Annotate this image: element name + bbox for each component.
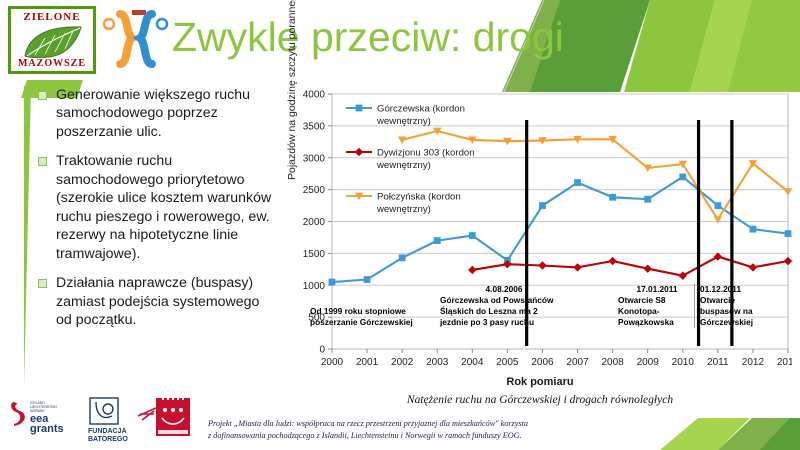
svg-text:2000: 2000: [303, 217, 326, 228]
chart-annotation-4: 01.12.2011Otwarciebuspasów naGórczewskie…: [700, 284, 780, 328]
svg-text:2000: 2000: [321, 357, 344, 368]
bullet-square-icon: [38, 91, 47, 100]
sponsor-logos: ICELAND LIECHTENSTEIN NORWAY eea grants …: [8, 392, 208, 442]
braces-graphic: [100, 8, 170, 70]
svg-text:2004: 2004: [461, 357, 484, 368]
svg-text:2003: 2003: [426, 357, 449, 368]
bullet-square-icon: [38, 157, 47, 166]
footer-line-2: z dofinansowania pochodzącego z Islandii…: [208, 430, 658, 442]
page-title: Zwykle przeciw: drogi: [172, 14, 564, 61]
annotation-date: 17.01.2011: [618, 284, 696, 295]
bullet-text: Generowanie większego ruchu samochodoweg…: [56, 86, 278, 141]
chart-caption: Natężenie ruchu na Górczewskiej i drogac…: [288, 394, 792, 406]
chart-plot-area: 0500100015002000250030003500400020002001…: [288, 84, 792, 376]
logo-word-top: ZIELONE: [11, 11, 93, 23]
footer-line-1: Projekt „Miasta dla ludzi: współpraca na…: [208, 418, 658, 430]
polska-fundacja-logo: [138, 394, 190, 436]
annotation-line: Od 1999 roku stopniowe: [310, 306, 432, 317]
annotation-line: Konotopa-: [618, 306, 696, 317]
svg-text:wewnętrzny): wewnętrzny): [376, 116, 431, 127]
zielone-mazowsze-logo: ZIELONE MAZOWSZE: [8, 6, 98, 76]
svg-text:wewnętrzny): wewnętrzny): [376, 204, 431, 215]
logo-word-bottom: MAZOWSZE: [11, 58, 93, 69]
svg-text:2500: 2500: [303, 185, 326, 196]
svg-text:2013: 2013: [777, 357, 792, 368]
annotation-line: Powązkowska: [618, 317, 696, 328]
bullet-list: Generowanie większego ruchu samochodoweg…: [38, 86, 278, 340]
svg-text:FUNDACJA: FUNDACJA: [88, 428, 127, 435]
annotation-line: Śląskich do Leszna ma 2: [440, 306, 568, 317]
list-item: Generowanie większego ruchu samochodoweg…: [38, 86, 278, 141]
annotation-date: 4.08.2006: [440, 284, 568, 295]
list-item: Działania naprawcze (buspasy) zamiast po…: [38, 274, 278, 329]
chart-x-axis-label: Rok pomiaru: [288, 376, 792, 388]
svg-text:2009: 2009: [637, 357, 660, 368]
annotation-line: jezdnie po 3 pasy ruchu: [440, 317, 568, 328]
svg-text:2006: 2006: [531, 357, 554, 368]
footer-decorative-shapes: [640, 410, 800, 450]
annotation-divider: [694, 284, 695, 328]
svg-text:1000: 1000: [303, 281, 326, 292]
annotation-line: Górczewskiej: [700, 317, 780, 328]
annotation-date: 01.12.2011: [700, 284, 780, 295]
svg-text:2005: 2005: [496, 357, 519, 368]
annotation-line: Otwarcie S8: [618, 295, 696, 306]
slide-root: ZIELONE MAZOWSZE Zwykle przeciw: drogi: [0, 0, 800, 450]
footer-funding-text: Projekt „Miasta dla ludzi: współpraca na…: [208, 418, 658, 442]
eea-grants-logo: ICELAND LIECHTENSTEIN NORWAY eea grants: [11, 401, 63, 435]
svg-text:Górczewska (kordon: Górczewska (kordon: [377, 104, 465, 115]
svg-text:BATOREGO: BATOREGO: [88, 436, 128, 442]
svg-text:3000: 3000: [303, 153, 326, 164]
annotation-line: buspasów na: [700, 306, 780, 317]
annotation-line: Otwarcie: [700, 295, 780, 306]
svg-text:grants: grants: [30, 423, 64, 435]
bullet-square-icon: [38, 279, 47, 288]
fundacja-batorego-logo: FUNDACJA BATOREGO: [88, 398, 128, 442]
chart-annotation-2: 4.08.2006Górczewska od PowstańcówŚląskic…: [440, 284, 568, 328]
bullet-text: Działania naprawcze (buspasy) zamiast po…: [56, 274, 278, 329]
svg-text:2001: 2001: [356, 357, 379, 368]
svg-text:Połczyńska (kordon: Połczyńska (kordon: [377, 192, 461, 203]
chart-annotation-3: 17.01.2011Otwarcie S8Konotopa-Powązkowsk…: [618, 284, 696, 328]
list-item: Traktowanie ruchu samochodowego prioryte…: [38, 152, 278, 263]
annotation-line: Górczewska od Powstańców: [440, 295, 568, 306]
svg-text:2008: 2008: [601, 357, 624, 368]
svg-text:4000: 4000: [303, 90, 326, 101]
svg-text:2010: 2010: [672, 357, 695, 368]
svg-text:3500: 3500: [303, 121, 326, 132]
svg-text:1500: 1500: [303, 249, 326, 260]
svg-text:wewnętrzny): wewnętrzny): [376, 160, 431, 171]
svg-text:0: 0: [319, 345, 325, 356]
svg-text:2007: 2007: [566, 357, 589, 368]
chart-annotation-1: Od 1999 roku stopnioweposzerzanie Górcze…: [310, 306, 432, 328]
svg-text:2011: 2011: [707, 357, 729, 368]
svg-text:2012: 2012: [742, 357, 765, 368]
traffic-chart: Pojazdów na godzinę szczytu porannego 05…: [288, 84, 792, 424]
annotation-line: poszerzanie Górczewskiej: [310, 317, 432, 328]
bullet-text: Traktowanie ruchu samochodowego prioryte…: [56, 152, 278, 263]
left-accent-bar: [24, 86, 31, 386]
svg-text:Dywizjonu 303 (kordon: Dywizjonu 303 (kordon: [377, 148, 475, 159]
svg-text:2002: 2002: [391, 357, 414, 368]
